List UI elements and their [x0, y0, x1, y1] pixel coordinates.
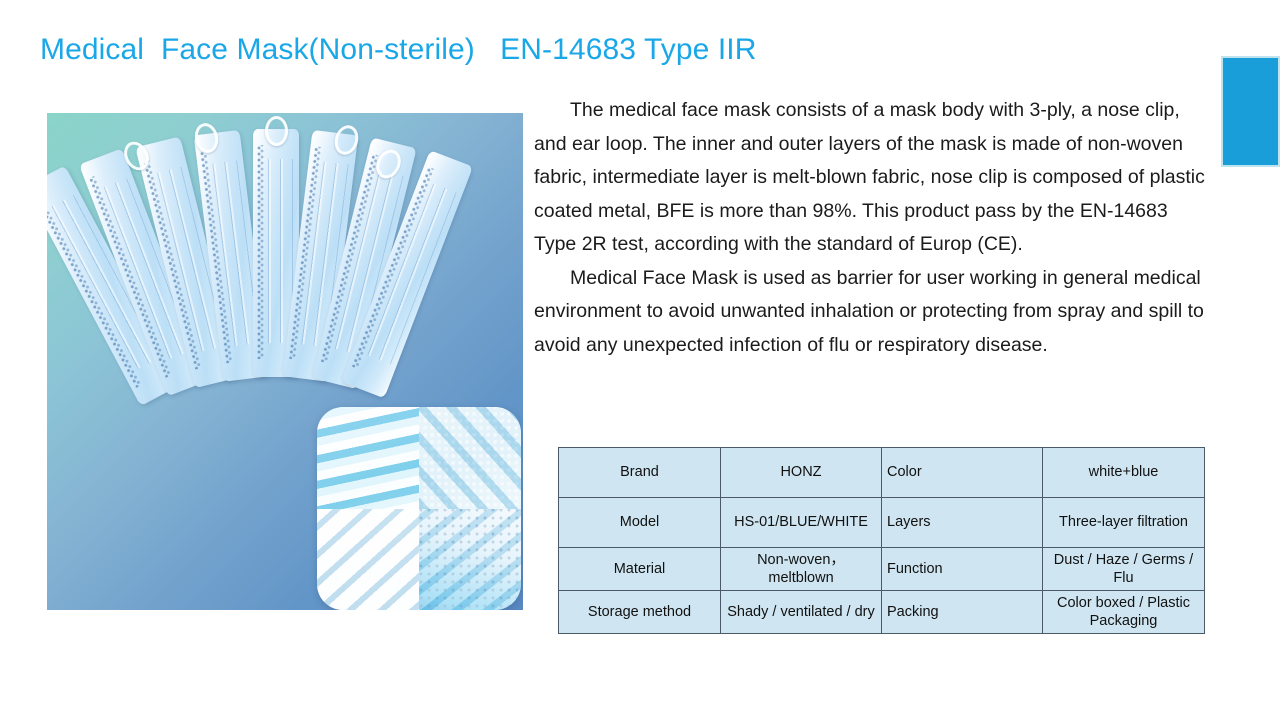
spec-key: Layers [882, 498, 1043, 548]
spec-value: Dust / Haze / Germs / Flu [1043, 548, 1205, 591]
collage-cell-layers [419, 509, 521, 611]
table-row: Material Non-woven，meltblown Function Du… [559, 548, 1205, 591]
table-row: Brand HONZ Color white+blue [559, 448, 1205, 498]
paragraph-1: The medical face mask consists of a mask… [534, 94, 1210, 262]
product-photo [47, 113, 523, 610]
description-text: The medical face mask consists of a mask… [534, 94, 1210, 362]
spec-key: Model [559, 498, 721, 548]
spec-value: white+blue [1043, 448, 1205, 498]
mask-fan-group [47, 113, 523, 413]
accent-rectangle [1221, 56, 1280, 167]
ear-loop-icon [265, 116, 288, 146]
spec-value: Non-woven，meltblown [721, 548, 882, 591]
page-title: Medical Face Mask(Non-sterile) EN-14683 … [40, 32, 1190, 68]
spec-value: Three-layer filtration [1043, 498, 1205, 548]
paragraph-2: Medical Face Mask is used as barrier for… [534, 262, 1210, 363]
spec-value: HONZ [721, 448, 882, 498]
collage-cell-edge [419, 407, 521, 509]
collage-cell-fabric [317, 509, 419, 611]
spec-key: Packing [882, 591, 1043, 634]
spec-value: HS-01/BLUE/WHITE [721, 498, 882, 548]
spec-key: Material [559, 548, 721, 591]
mask-detail-collage [317, 407, 521, 610]
spec-value: Shady / ventilated / dry [721, 591, 882, 634]
table-row: Storage method Shady / ventilated / dry … [559, 591, 1205, 634]
spec-key: Brand [559, 448, 721, 498]
spec-key: Color [882, 448, 1043, 498]
spec-value: Color boxed / Plastic Packaging [1043, 591, 1205, 634]
specification-table: Brand HONZ Color white+blue Model HS-01/… [558, 447, 1205, 634]
spec-key: Storage method [559, 591, 721, 634]
collage-cell-pleats [317, 407, 419, 509]
spec-key: Function [882, 548, 1043, 591]
table-row: Model HS-01/BLUE/WHITE Layers Three-laye… [559, 498, 1205, 548]
